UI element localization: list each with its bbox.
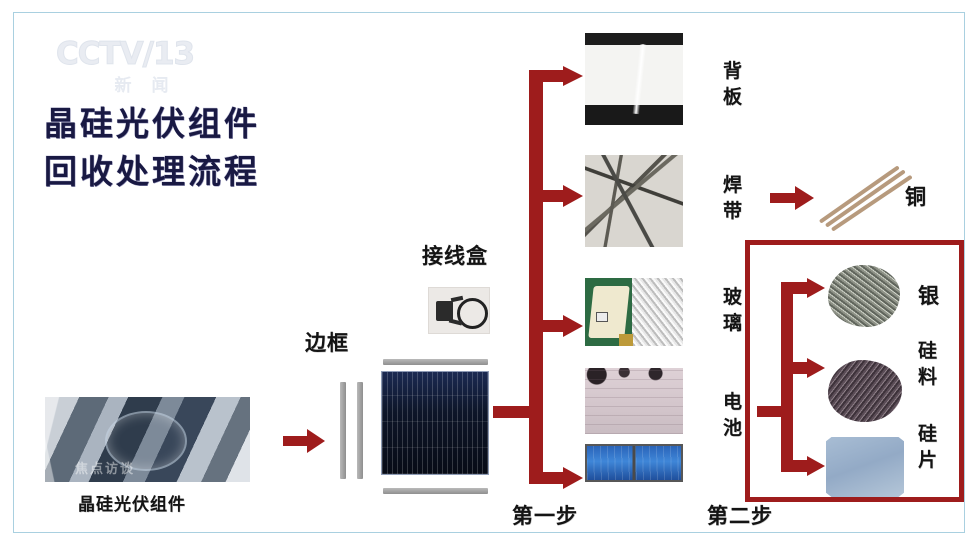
flow-arrow-step-one: [493, 66, 583, 491]
photo-ribbon: [585, 155, 683, 247]
photo-backsheet: [585, 33, 683, 125]
title-line-1: 晶硅光伏组件: [44, 100, 384, 148]
label-step-one: 第一步: [512, 503, 578, 529]
photo-silicon-material: [828, 360, 902, 422]
glass-tag: [596, 312, 608, 322]
label-backsheet: 背 板: [723, 58, 743, 110]
junction-box-cable: [457, 298, 488, 329]
photo-cell-sheet: [585, 368, 683, 434]
label-cell: 电 池: [723, 389, 743, 441]
photo-solar-panel: [381, 371, 489, 475]
label-step-two: 第二步: [707, 503, 773, 529]
photo-silver-granules: [828, 265, 900, 327]
frame-bar-right: [357, 382, 363, 479]
photo-junction-box: [428, 287, 490, 334]
title-line-2: 回收处理流程: [44, 148, 384, 196]
photo-copper-strips: [818, 158, 914, 232]
glass-yellow-patch: [619, 334, 633, 346]
label-glass: 玻 璃: [723, 284, 743, 336]
label-module: 晶硅光伏组件: [78, 492, 186, 518]
photo-cell-blue: [585, 444, 683, 482]
backsheet-sheen: [632, 44, 646, 114]
arrow-ribbon-to-copper: [770, 185, 814, 211]
photo-glass: [585, 278, 683, 346]
label-frame: 边框: [305, 330, 349, 356]
label-silicon-wafer: 硅 片: [918, 421, 938, 473]
page-title: 晶硅光伏组件 回收处理流程: [44, 100, 384, 196]
photo-pv-module: 焦点访谈: [45, 397, 250, 482]
label-silver: 银: [918, 283, 940, 309]
photo-silicon-wafer: [826, 437, 904, 497]
glass-pile: [588, 286, 629, 338]
label-ribbon: 焊 带: [723, 172, 743, 224]
cctv-logo: CCTV/13 新 闻: [56, 38, 216, 96]
cctv-logo-text: CCTV/13: [56, 38, 216, 70]
label-copper: 铜: [905, 184, 927, 210]
flow-arrow-step-two: [757, 278, 825, 478]
frame-bar-bottom: [383, 488, 488, 494]
frame-bar-top: [383, 359, 488, 365]
cctv-logo-subtitle: 新 闻: [56, 71, 216, 96]
photo-watermark: 焦点访谈: [75, 458, 135, 477]
frame-bar-left: [340, 382, 346, 479]
infographic-slide: CCTV/13 新 闻 晶硅光伏组件 回收处理流程 焦点访谈 晶硅光伏组件 边框…: [0, 0, 980, 548]
arrow-module-to-frame: [283, 428, 325, 454]
label-silicon-material: 硅 料: [918, 338, 938, 390]
label-junction-box: 接线盒: [422, 243, 488, 269]
copper-strip-2: [825, 169, 906, 227]
